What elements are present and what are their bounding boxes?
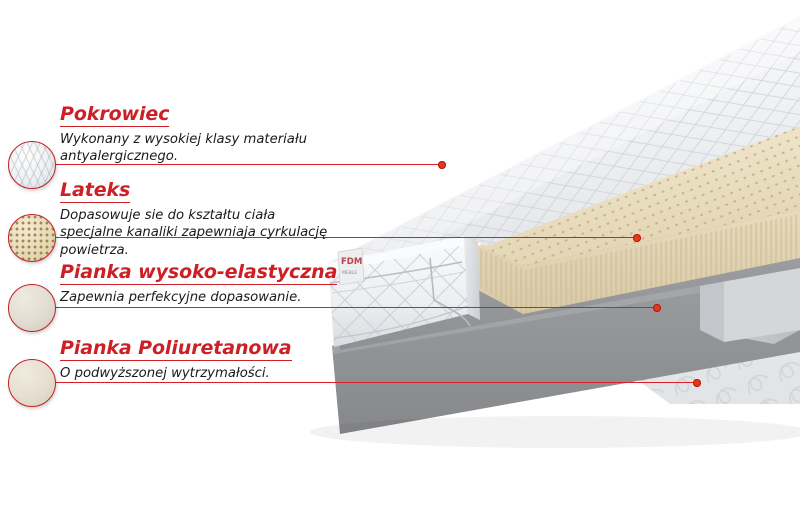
- high-resilience-foam-swatch: [8, 284, 56, 332]
- callout-description-pokrowiec: Wykonany z wysokiej klasy materiału anty…: [60, 131, 330, 165]
- callout-description-pianka-poliuretanowa: O podwyższonej wytrzymałości.: [60, 365, 292, 382]
- perforated-latex-swatch: [8, 214, 56, 262]
- callout-title-pianka-wysoko-elastyczna: Pianka wysoko-elastyczna: [60, 262, 337, 285]
- brand-tag: FDM MEBLE: [338, 248, 364, 285]
- callout-description-pianka-wysoko-elastyczna: Zapewnia perfekcyjne dopasowanie.: [60, 289, 330, 306]
- polyurethane-foam-swatch: [8, 359, 56, 407]
- mattress-cover-front: [328, 236, 480, 347]
- callout-dot-pianka-wysoko-elastyczna: [653, 304, 661, 312]
- quilted-fabric-swatch: [8, 141, 56, 189]
- callout-dot-pianka-poliuretanowa: [693, 379, 701, 387]
- mattress-cover-top: [328, 16, 800, 263]
- callout-description-lateks: Dopasowuje sie do kształtu ciała specjal…: [60, 207, 328, 258]
- svg-text:FDM: FDM: [341, 257, 362, 267]
- callout-pianka-wysoko-elastyczna: Pianka wysoko-elastyczna Zapewnia perfek…: [60, 262, 337, 306]
- callout-dot-pokrowiec: [438, 161, 446, 169]
- callout-dot-lateks: [633, 234, 641, 242]
- polyurethane-foam-layer: [332, 268, 800, 434]
- callout-lateks: Lateks Dopasowuje sie do kształtu ciała …: [60, 180, 328, 259]
- background-foam-panel: [530, 228, 800, 404]
- callout-title-lateks: Lateks: [60, 180, 130, 203]
- svg-text:MEBLE: MEBLE: [342, 270, 357, 276]
- high-resilience-foam-layer: [332, 196, 800, 350]
- leader-line-pianka-wysoko-elastyczna: [42, 307, 657, 308]
- callout-pianka-poliuretanowa: Pianka Poliuretanowa O podwyższonej wytr…: [60, 338, 292, 382]
- zipper-strip: [463, 82, 800, 244]
- callout-title-pianka-poliuretanowa: Pianka Poliuretanowa: [60, 338, 292, 361]
- latex-layer: [460, 92, 800, 314]
- white-foam-block: [700, 239, 800, 344]
- callout-pokrowiec: Pokrowiec Wykonany z wysokiej klasy mate…: [60, 104, 330, 166]
- callout-title-pokrowiec: Pokrowiec: [60, 104, 169, 127]
- infographic-canvas: FDM MEBLE Pokrowiec Wykonany z wysokiej …: [0, 0, 800, 512]
